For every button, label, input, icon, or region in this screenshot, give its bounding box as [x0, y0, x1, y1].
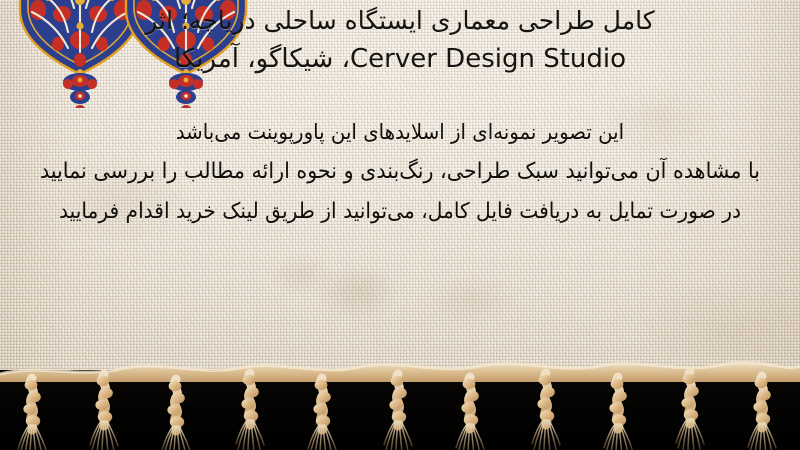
slide-title: کامل طراحی معماری ایستگاه ساحلی دریاچه؛ …	[0, 2, 800, 78]
body-line-2: با مشاهده آن می‌توانید سبک طراحی، رنگ‌بن…	[24, 152, 776, 192]
title-line-2: Cerver Design Studio، شیکاگو، آمریکا	[0, 40, 800, 78]
carpet-fringe-icon	[0, 352, 800, 450]
slide-body: این تصویر نمونه‌ای از اسلایدهای این پاور…	[0, 112, 800, 232]
slide-canvas: کامل طراحی معماری ایستگاه ساحلی دریاچه؛ …	[0, 0, 800, 450]
body-line-3: در صورت تمایل به دریافت فایل کامل، می‌تو…	[24, 192, 776, 232]
title-line-1: کامل طراحی معماری ایستگاه ساحلی دریاچه؛ …	[0, 2, 800, 40]
body-line-1: این تصویر نمونه‌ای از اسلایدهای این پاور…	[24, 112, 776, 152]
